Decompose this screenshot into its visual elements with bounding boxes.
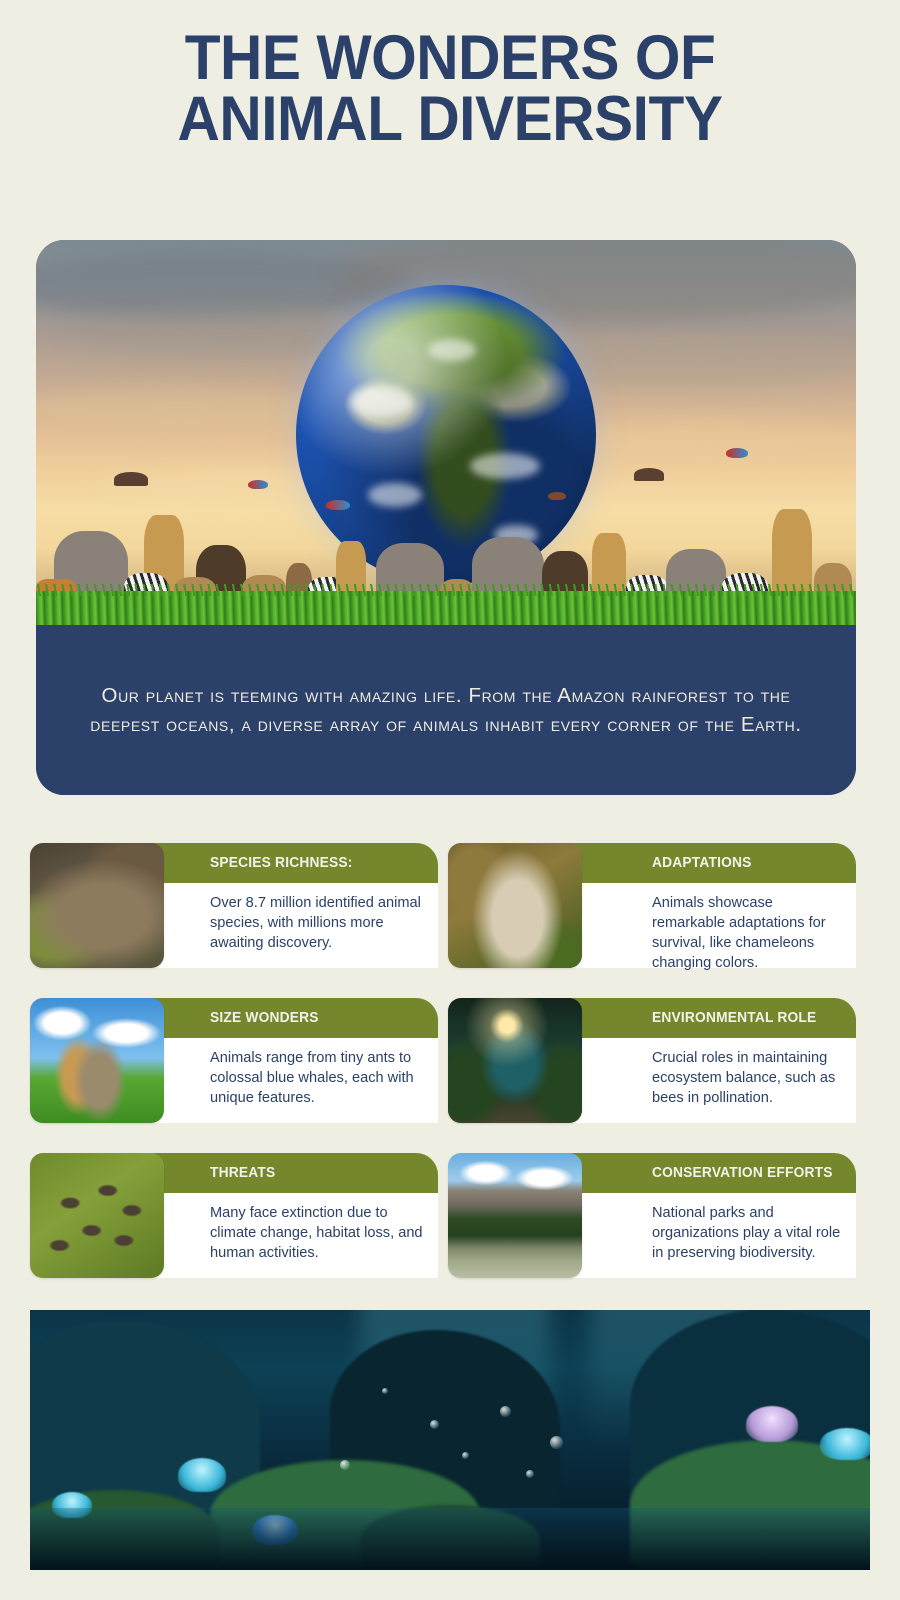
card-title: ADAPTATIONS xyxy=(652,855,752,871)
infographic-page: THE WONDERS OF ANIMAL DIVERSITY xyxy=(0,0,900,1600)
wildebeest-herd-aerial-photo xyxy=(30,1153,164,1278)
card-text: Animals range from tiny ants to colossal… xyxy=(148,1038,438,1109)
bird-icon xyxy=(548,492,566,500)
hero-quote-text: Our planet is teeming with amazing life.… xyxy=(86,681,806,739)
bubble-2 xyxy=(462,1452,469,1459)
card-body: Many face extinction due to climate chan… xyxy=(148,1193,438,1278)
bat-icon xyxy=(114,472,148,486)
card-text: National parks and organizations play a … xyxy=(566,1193,856,1264)
hero-image xyxy=(36,240,856,625)
giraffe-and-elephant-photo xyxy=(30,998,164,1123)
card-size-wonders[interactable]: SIZE WONDERS Animals range from tiny ant… xyxy=(30,995,438,1126)
card-title: SIZE WONDERS xyxy=(210,1010,319,1026)
hero-section: Our planet is teeming with amazing life.… xyxy=(36,240,856,795)
rock-wall-left xyxy=(30,1320,260,1510)
card-header: ENVIRONMENTAL ROLE xyxy=(566,998,856,1038)
card-thumbnail xyxy=(30,1153,164,1278)
card-thumbnail xyxy=(30,843,164,968)
card-thumbnail xyxy=(448,998,582,1123)
card-conservation-efforts[interactable]: CONSERVATION EFFORTS National parks and … xyxy=(448,1150,856,1281)
jellyfish-4 xyxy=(820,1428,870,1460)
card-header: ADAPTATIONS xyxy=(566,843,856,883)
card-header: SIZE WONDERS xyxy=(148,998,438,1038)
kangaroo-with-joey-photo xyxy=(448,843,582,968)
card-title: THREATS xyxy=(210,1165,275,1181)
card-body: Crucial roles in maintaining ecosystem b… xyxy=(566,1038,856,1123)
lush-forest-path-photo xyxy=(448,998,582,1123)
card-title: SPECIES RICHNESS: xyxy=(210,855,353,871)
tortoise-photo xyxy=(30,843,164,968)
jellyfish-1 xyxy=(178,1458,226,1492)
card-threats[interactable]: THREATS Many face extinction due to clim… xyxy=(30,1150,438,1281)
mountain-national-park-photo xyxy=(448,1153,582,1278)
card-thumbnail xyxy=(30,998,164,1123)
bat-2-icon xyxy=(634,468,664,481)
bubble-5 xyxy=(550,1436,563,1449)
card-title: CONSERVATION EFFORTS xyxy=(652,1165,833,1181)
card-body: Animals range from tiny ants to colossal… xyxy=(148,1038,438,1123)
card-header: THREATS xyxy=(148,1153,438,1193)
title-line-1: THE WONDERS OF xyxy=(185,23,716,93)
macaw-3-icon xyxy=(726,448,748,458)
card-title: ENVIRONMENTAL ROLE xyxy=(652,1010,816,1026)
card-header: SPECIES RICHNESS: xyxy=(148,843,438,883)
bubble-4 xyxy=(526,1470,534,1478)
card-species-richness[interactable]: SPECIES RICHNESS: Over 8.7 million ident… xyxy=(30,840,438,971)
bubble-7 xyxy=(382,1388,388,1394)
jellyfish-3 xyxy=(746,1406,798,1442)
card-text: Many face extinction due to climate chan… xyxy=(148,1193,438,1264)
card-body: Animals showcase remarkable adaptations … xyxy=(566,883,856,968)
card-thumbnail xyxy=(448,843,582,968)
card-thumbnail xyxy=(448,1153,582,1278)
bubble-3 xyxy=(500,1406,511,1417)
ocean-floor xyxy=(30,1508,870,1570)
footer-ocean-image xyxy=(30,1310,870,1570)
card-adaptations[interactable]: ADAPTATIONS Animals showcase remarkable … xyxy=(448,840,856,971)
macaw-2-icon xyxy=(326,500,350,510)
card-environmental-role[interactable]: ENVIRONMENTAL ROLE Crucial roles in main… xyxy=(448,995,856,1126)
page-title: THE WONDERS OF ANIMAL DIVERSITY xyxy=(32,28,869,150)
hero-quote-panel: Our planet is teeming with amazing life.… xyxy=(36,625,856,795)
grass-strip xyxy=(36,591,856,625)
card-text: Crucial roles in maintaining ecosystem b… xyxy=(566,1038,856,1109)
card-text: Animals showcase remarkable adaptations … xyxy=(566,883,856,973)
bubble-1 xyxy=(430,1420,439,1429)
bubble-6 xyxy=(340,1460,350,1470)
card-text: Over 8.7 million identified animal speci… xyxy=(148,883,438,954)
card-header: CONSERVATION EFFORTS xyxy=(566,1153,856,1193)
title-line-2: ANIMAL DIVERSITY xyxy=(32,89,869,150)
macaw-icon xyxy=(248,480,268,489)
card-body: National parks and organizations play a … xyxy=(566,1193,856,1278)
card-body: Over 8.7 million identified animal speci… xyxy=(148,883,438,968)
